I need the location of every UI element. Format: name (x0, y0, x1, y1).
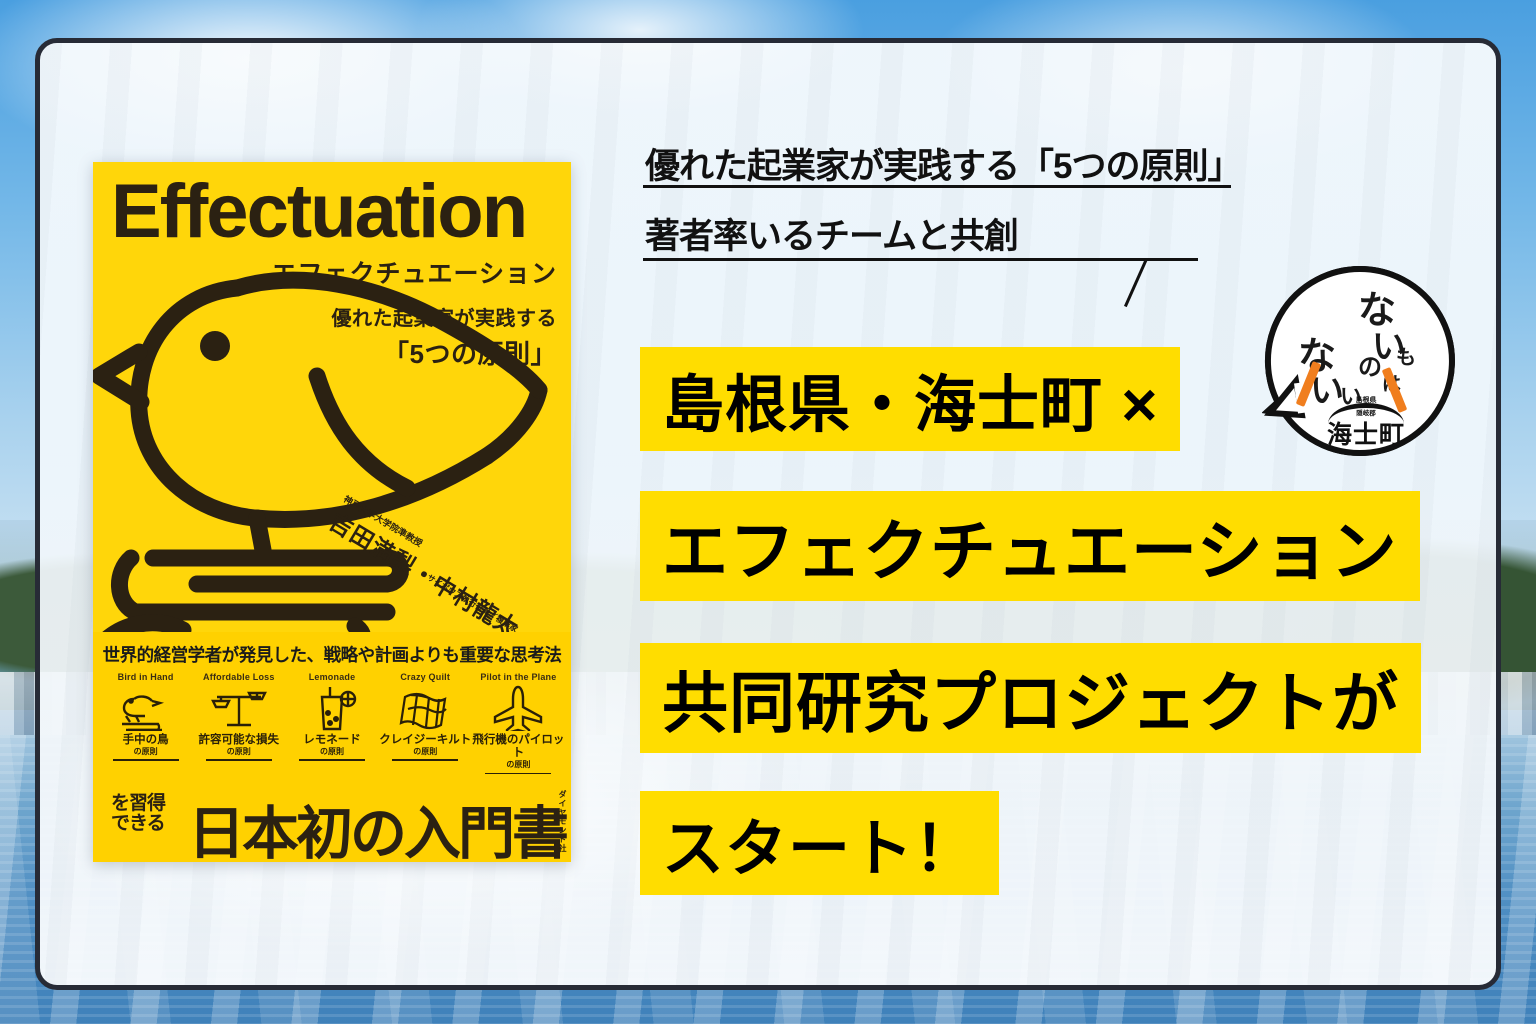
principle-jp-sub: の原則 (192, 747, 285, 756)
book-band-lead: 世界的経営学者が発見した、戦略や計画よりも重要な思考法 (93, 642, 571, 667)
principle-divider (485, 773, 551, 775)
principles-list: Bird in Hand 手中の鳥 (99, 672, 565, 774)
book-bottom-left-line2: できる (111, 813, 165, 834)
principle-item: Lemonade レモネード (285, 672, 378, 774)
kicker-line-1: 優れた起業家が実践する「5つの原則」 (645, 138, 1245, 189)
lemonade-cup-icon (285, 682, 378, 732)
principle-item: Affordable Loss 許容可能な損失 の原則 (192, 672, 285, 774)
book-obi-band: 世界的経営学者が発見した、戦略や計画よりも重要な思考法 Bird in Hand (93, 632, 571, 862)
principle-jp-main: 飛行機のパイロット (472, 734, 565, 760)
principle-divider (299, 759, 365, 761)
headline-block-4: スタート！ (640, 791, 999, 895)
kicker-rule-tick (1124, 258, 1148, 307)
book-bottom-left-line1: を習得 (111, 793, 165, 814)
quilt-patchwork-icon (379, 682, 472, 732)
principle-jp-main: 許容可能な損失 (192, 734, 285, 747)
book-cover: Effectuation エフェクチュエーション 優れた起業家が実践する 「5つ… (93, 162, 571, 862)
principle-jp-label: 飛行機のパイロット の原則 (472, 734, 565, 770)
book-publisher: ダイヤモンド社 (557, 790, 568, 853)
principle-jp-sub: の原則 (285, 747, 378, 756)
principle-en-label: Affordable Loss (192, 672, 285, 682)
principle-jp-main: 手中の鳥 (99, 734, 192, 747)
principle-jp-sub: の原則 (379, 747, 472, 756)
kicker-rule-bottom (643, 258, 1198, 261)
principle-item: Bird in Hand 手中の鳥 (99, 672, 192, 774)
principle-jp-main: レモネード (285, 734, 378, 747)
principle-jp-label: レモネード の原則 (285, 734, 378, 756)
content-card: Effectuation エフェクチュエーション 優れた起業家が実践する 「5つ… (35, 38, 1501, 990)
principle-en-label: Crazy Quilt (379, 672, 472, 682)
principle-jp-label: クレイジーキルト の原則 (379, 734, 472, 756)
headline-block-3: 共同研究プロジェクトが (640, 643, 1421, 753)
badge-text-no: の (1358, 347, 1382, 382)
principle-jp-sub: の原則 (99, 747, 192, 756)
principle-en-label: Bird in Hand (99, 672, 192, 682)
principle-jp-sub: の原則 (472, 760, 565, 769)
headline-block-2: エフェクチュエーション (640, 491, 1420, 601)
bird-on-hand-icon (99, 682, 192, 732)
airplane-icon (472, 682, 565, 732)
book-bottom-copy: を習得 できる 日本初の入門書! ダイヤモンド社 (93, 790, 571, 856)
principle-divider (113, 759, 179, 761)
kicker-line-2: 著者率いるチームと共創 (645, 208, 1245, 259)
principle-jp-label: 手中の鳥 の原則 (99, 734, 192, 756)
book-bottom-left: を習得 できる (111, 794, 165, 834)
principle-item: Crazy Quilt クレイジーキルト の原則 (379, 672, 472, 774)
principle-divider (206, 759, 272, 761)
badge-town-name: 海士町 (1316, 415, 1416, 451)
principle-item: Pilot in the Plane 飛行機のパイロット の原則 (472, 672, 565, 774)
book-title: Effectuation (111, 174, 526, 250)
book-bottom-headline: 日本初の入門書! (188, 788, 571, 862)
principle-divider (392, 759, 458, 761)
kicker-rule-top (643, 185, 1231, 188)
principle-en-label: Pilot in the Plane (472, 672, 565, 682)
principle-en-label: Lemonade (285, 672, 378, 682)
principle-jp-label: 許容可能な損失 の原則 (192, 734, 285, 756)
ama-town-logo-badge: な い な い も の は い 島根県 隠岐郡 海士町 (1262, 263, 1458, 459)
right-column: 優れた起業家が実践する「5つの原則」 著者率いるチームと共創 島根県・海士町 ×… (605, 43, 1501, 990)
badge-text-mo: も (1396, 341, 1416, 370)
principle-jp-main: クレイジーキルト (379, 734, 472, 747)
balance-scale-icon (192, 682, 285, 732)
headline-block-1: 島根県・海士町 × (640, 347, 1180, 451)
